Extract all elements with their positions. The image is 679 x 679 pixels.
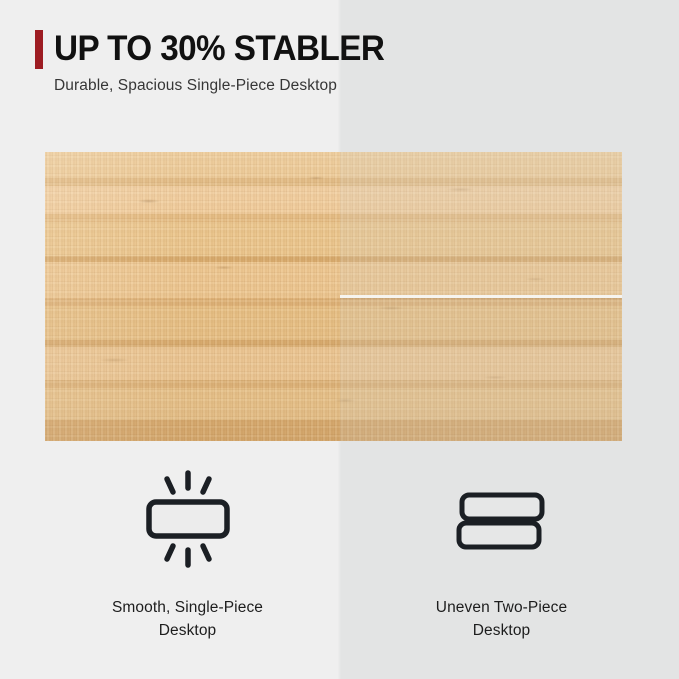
caption-line-1: Smooth, Single-Piece <box>112 599 263 616</box>
comparison-item-single-piece: Smooth, Single-Piece Desktop <box>18 466 357 666</box>
page-subtitle: Durable, Spacious Single-Piece Desktop <box>54 77 337 95</box>
caption-line-1: Uneven Two-Piece <box>436 599 567 616</box>
page-title: UP TO 30% STABLER <box>54 26 384 72</box>
infographic-canvas: UP TO 30% STABLER Durable, Spacious Sing… <box>0 0 679 679</box>
uneven-two-piece-desktop-icon <box>332 466 671 571</box>
two-piece-seam-line <box>340 295 622 298</box>
accent-bar <box>35 30 43 69</box>
comparison-item-two-piece: Uneven Two-Piece Desktop <box>332 466 671 666</box>
comparison-row: Smooth, Single-Piece Desktop Uneven Two-… <box>0 466 679 666</box>
bamboo-desktop-photo <box>45 152 622 441</box>
caption-line-2: Desktop <box>332 619 671 642</box>
caption-line-2: Desktop <box>18 619 357 642</box>
comparison-caption-two-piece: Uneven Two-Piece Desktop <box>332 596 671 642</box>
comparison-caption-single-piece: Smooth, Single-Piece Desktop <box>18 596 357 642</box>
smooth-single-piece-desktop-icon <box>18 466 357 571</box>
header: UP TO 30% STABLER Durable, Spacious Sing… <box>0 0 679 130</box>
